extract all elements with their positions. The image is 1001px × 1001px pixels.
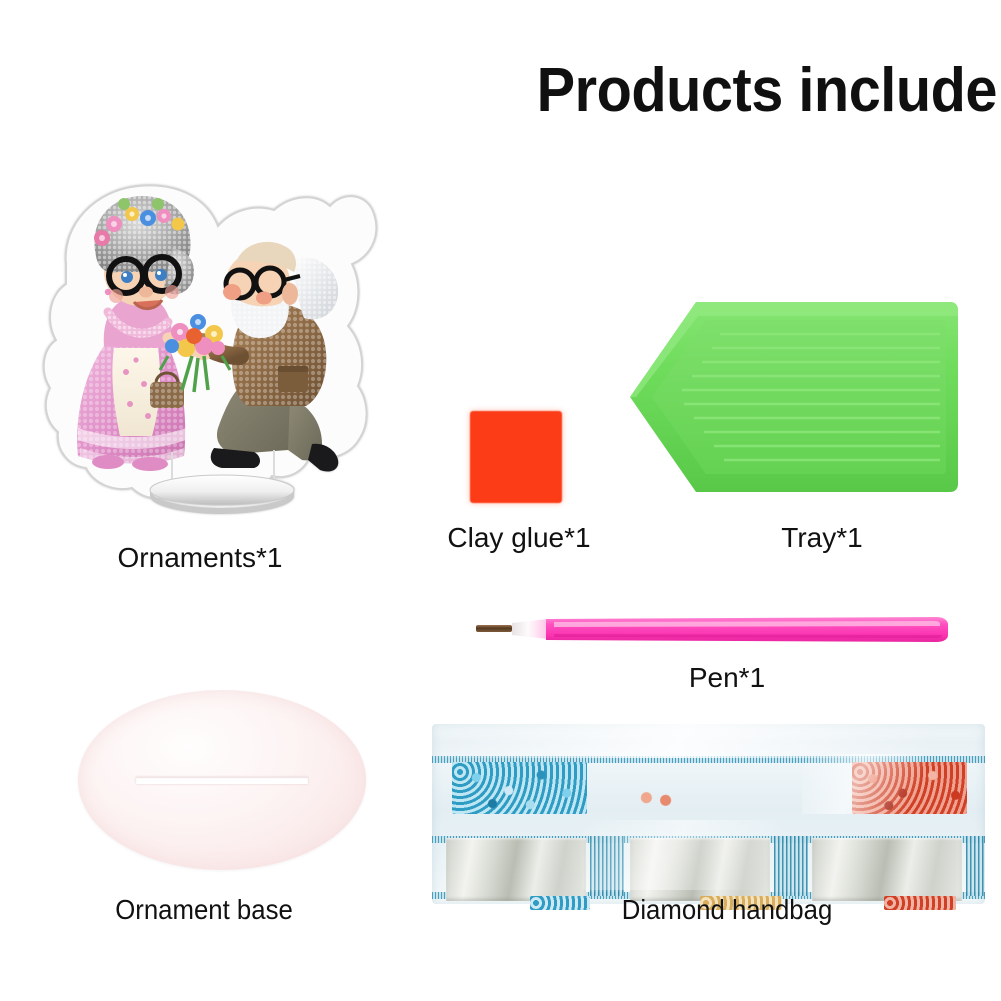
product-include-poster: Products include: [0, 0, 1001, 1001]
zip-band-2: [774, 836, 808, 896]
ornament-base-label: Ornament base: [115, 894, 293, 926]
pen-label: Pen*1: [689, 662, 765, 694]
bead-strip-red: [852, 762, 967, 814]
diamond-handbag-label: Diamond handbag: [622, 894, 833, 926]
zip-band-1: [590, 836, 624, 896]
bottom-beads-red: [884, 896, 956, 910]
foil-packet-2: [630, 838, 770, 901]
pen-image: [474, 610, 952, 650]
diamond-handbag-image: [432, 724, 985, 904]
diamond-pen-icon: [474, 610, 952, 650]
diamond-tray-icon: [624, 296, 960, 498]
foil-packet-3: [812, 838, 962, 901]
ornaments-image: [22, 160, 382, 520]
acrylic-ornament-elderly-couple-icon: [22, 160, 382, 520]
ornaments-label: Ornaments*1: [118, 542, 283, 574]
oval-ornament-base-icon: [78, 690, 366, 870]
bead-strip-blue: [452, 762, 587, 814]
loose-beads-peach: [632, 786, 680, 812]
zip-band-3: [966, 836, 984, 896]
clay-glue-square-icon: [470, 411, 562, 503]
clay-glue-label: Clay glue*1: [447, 522, 590, 554]
ornament-base-slot: [136, 777, 308, 784]
tray-image: [624, 296, 960, 498]
tray-label: Tray*1: [781, 522, 862, 554]
bead-strip-gold: [680, 762, 795, 814]
page-title: Products include: [537, 58, 997, 123]
bottom-beads-blue: [530, 896, 590, 910]
foil-packet-1: [446, 838, 586, 901]
